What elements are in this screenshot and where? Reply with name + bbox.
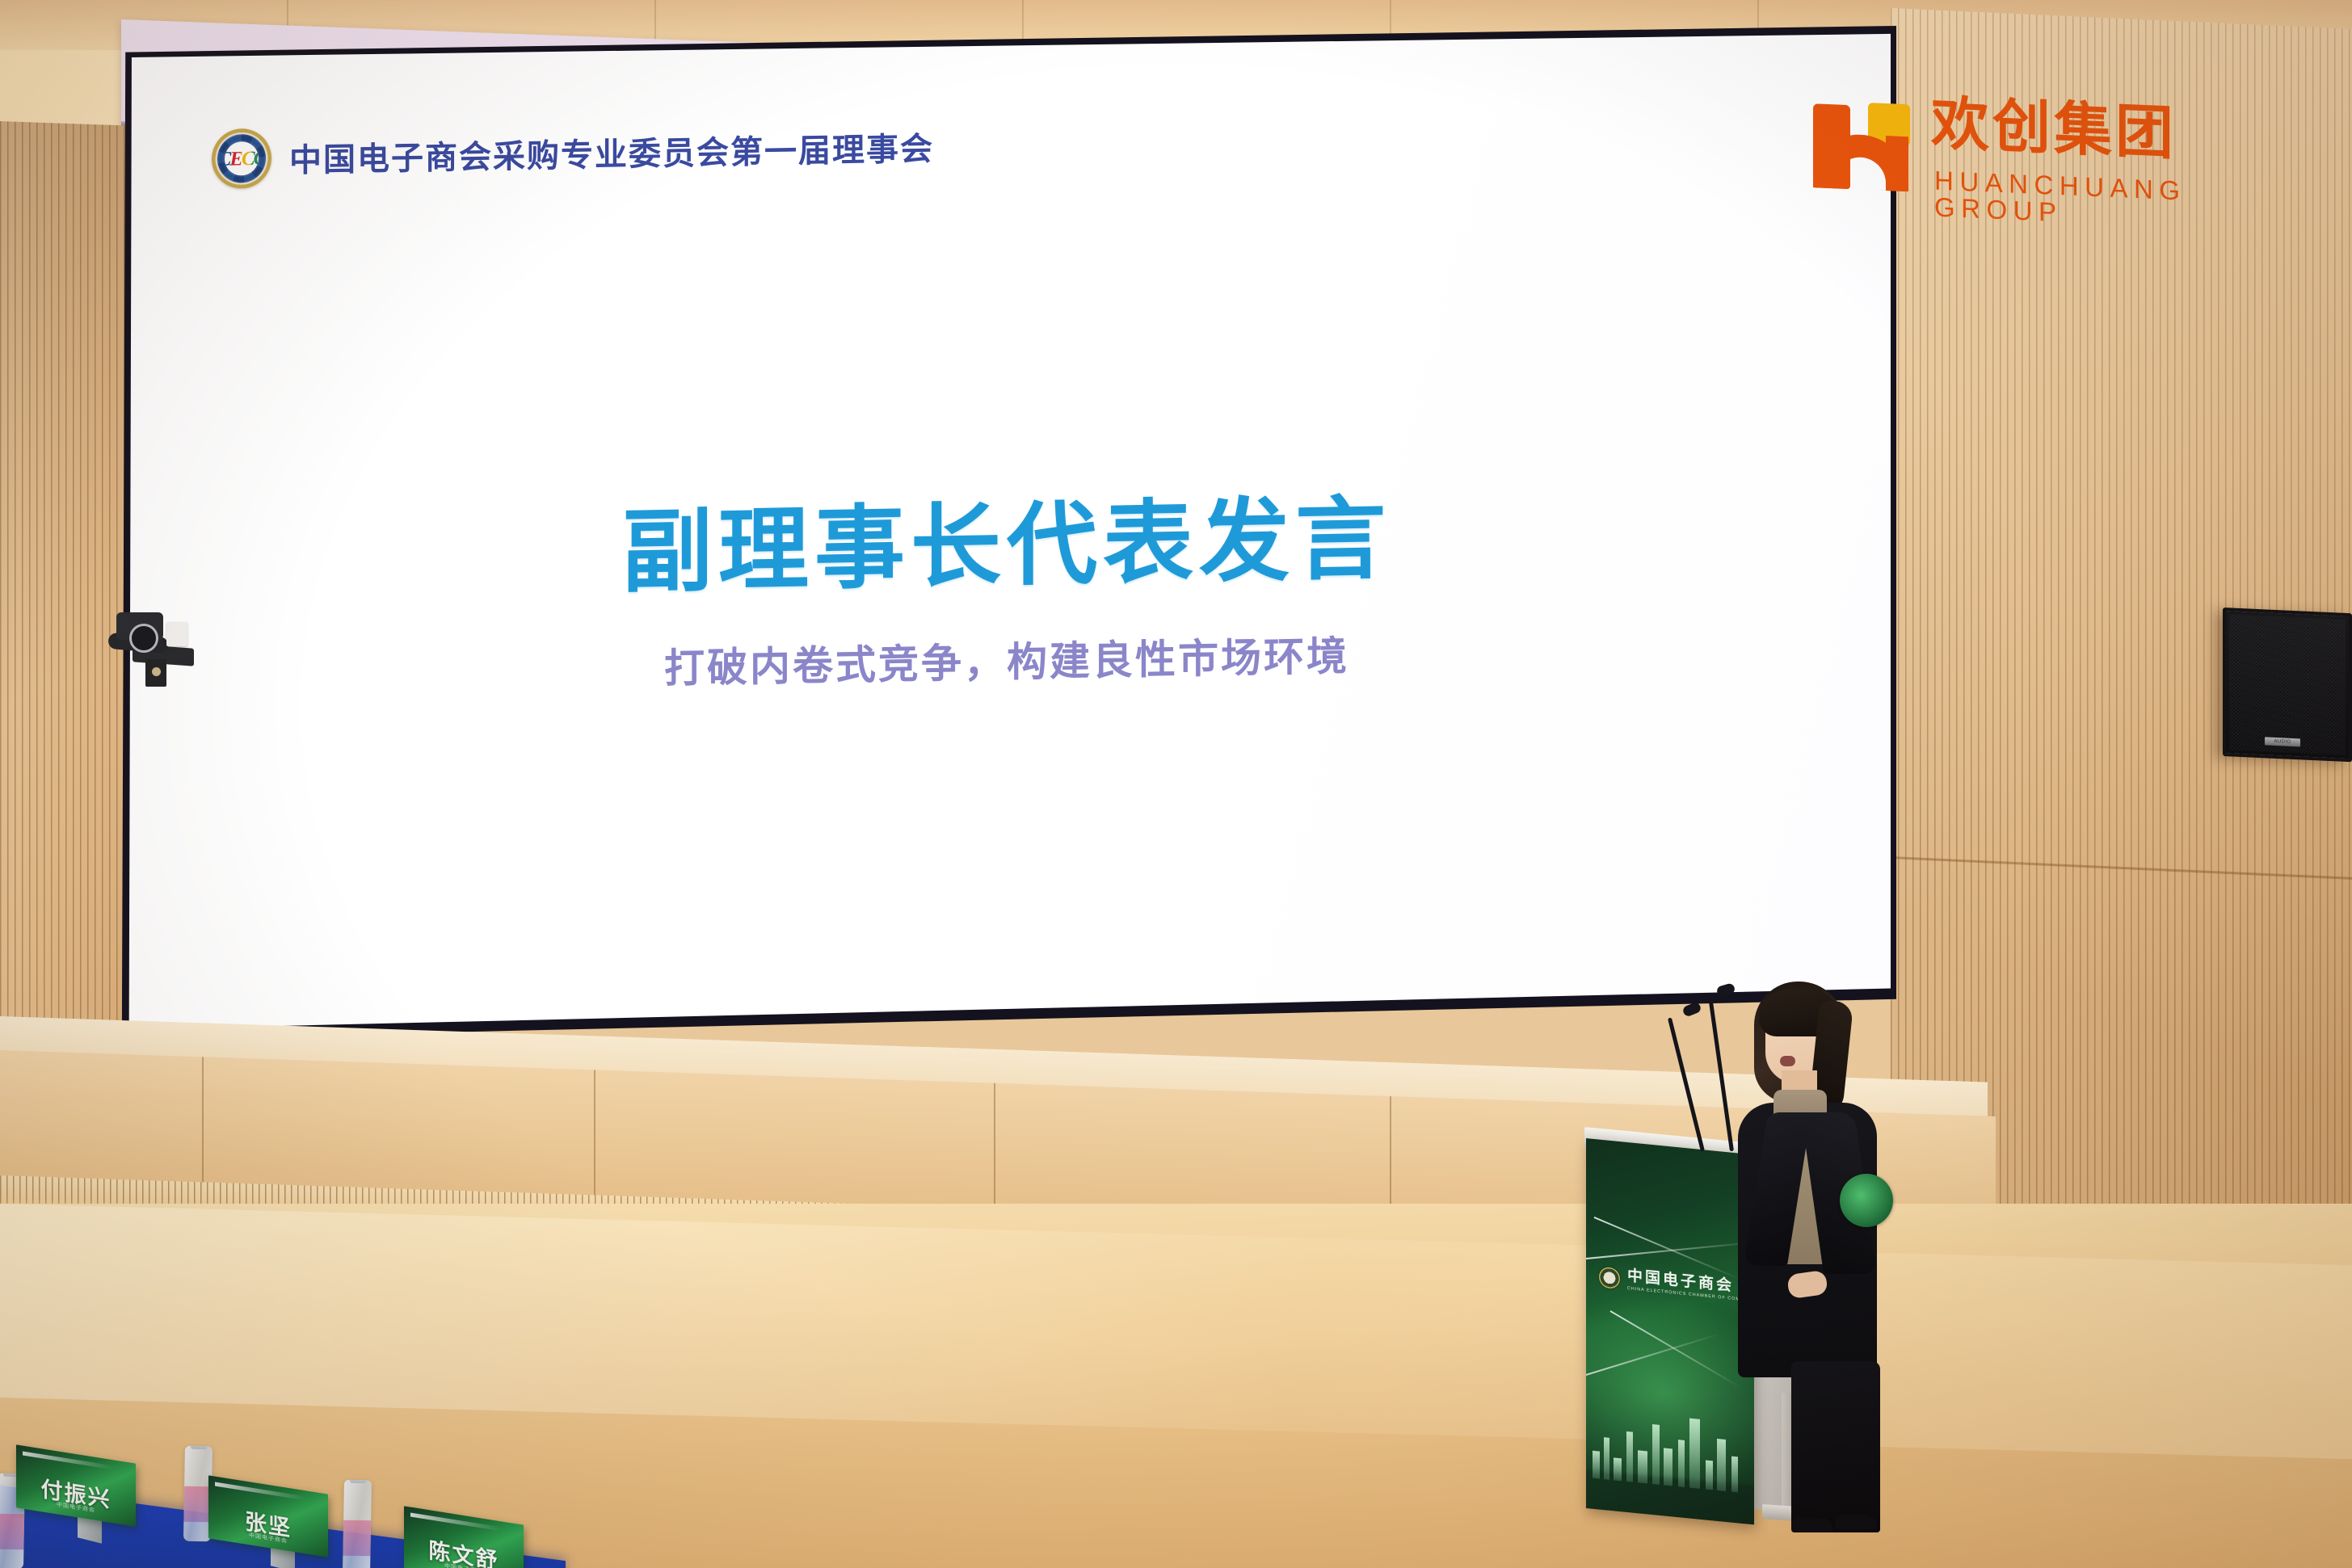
slide-header: CECC 中国电子商会采购专业委员会第一届理事会 (212, 116, 934, 189)
speaker-grille (2229, 614, 2346, 755)
conference-hall-photo: CECC 中国电子商会采购专业委员会第一届理事会 副理事长代表发言 打破内卷式竞… (0, 0, 2352, 1568)
speaker-shoe (1835, 1515, 1877, 1529)
bottle-label (183, 1486, 212, 1523)
bottle-cap (191, 1446, 207, 1449)
bottle-label (0, 1514, 24, 1550)
camera-post-hole (152, 667, 161, 676)
speaker-badge: AUDIO (2265, 737, 2300, 746)
bottle-cap (350, 1480, 366, 1483)
projection-screen: CECC 中国电子商会采购专业委员会第一届理事会 副理事长代表发言 打破内卷式竞… (123, 32, 1891, 1032)
water-bottle (343, 1480, 372, 1568)
speaker-trousers (1791, 1361, 1880, 1532)
camera-body (116, 612, 163, 640)
logo-arch-fill (1886, 136, 1908, 191)
seal-letters: CECC (225, 148, 259, 169)
speaker-armband-badge (1840, 1174, 1893, 1227)
speaker-person (1717, 982, 1903, 1531)
huanchuang-h-mark-icon (1808, 90, 1912, 193)
ptz-camera-icon (99, 599, 196, 696)
camera-lens-icon (129, 624, 158, 653)
wall-speaker-icon: AUDIO (2223, 607, 2352, 762)
bottle-label (343, 1520, 371, 1557)
speaker-mouth (1780, 1056, 1795, 1066)
cecc-seal-icon: CECC (212, 128, 271, 189)
slide-content: CECC 中国电子商会采购专业委员会第一届理事会 副理事长代表发言 打破内卷式竞… (123, 32, 1891, 1032)
corporate-logo-chinese: 欢创集团 (1931, 94, 2177, 162)
slide-main-title: 副理事长代表发言 (123, 456, 1891, 620)
corporate-logo: 欢创集团 HUANCHUANG GROUP (1808, 87, 2293, 225)
speaker-shoe (1791, 1518, 1833, 1532)
podium-seal-icon (1599, 1267, 1620, 1290)
camera-wall-plate (166, 622, 187, 646)
slide-subtitle: 打破内卷式竞争，构建良性市场环境 (123, 614, 1891, 704)
slide-header-title: 中国电子商会采购专业委员会第一届理事会 (289, 123, 934, 182)
